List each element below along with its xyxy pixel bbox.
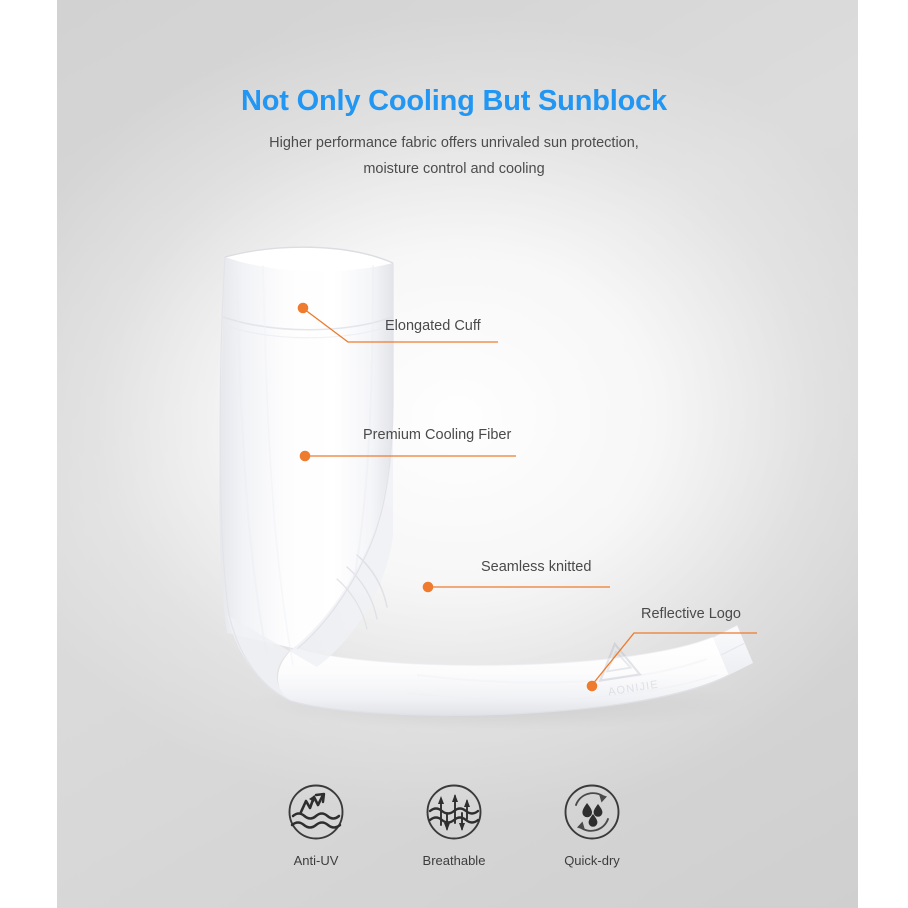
- feature-anti-uv: Anti-UV: [270, 783, 362, 868]
- feature-breathable: Breathable: [408, 783, 500, 868]
- callout-label-seamless-knitted: Seamless knitted: [481, 559, 591, 575]
- page-title: Not Only Cooling But Sunblock: [0, 85, 908, 118]
- anti-uv-icon: [287, 783, 345, 841]
- feature-label-anti-uv: Anti-UV: [294, 853, 339, 868]
- callout-label-reflective-logo: Reflective Logo: [641, 606, 741, 622]
- sleeve-body: AONIJIE: [219, 247, 753, 715]
- feature-label-breathable: Breathable: [423, 853, 486, 868]
- callout-label-elongated-cuff: Elongated Cuff: [385, 318, 481, 334]
- feature-label-quick-dry: Quick-dry: [564, 853, 620, 868]
- subtitle-line-1: Higher performance fabric offers unrival…: [0, 130, 908, 156]
- quick-dry-icon: [563, 783, 621, 841]
- product-infographic: AONIJIE Not Only Cooling But Sunblock Hi…: [0, 0, 908, 908]
- feature-quick-dry: Quick-dry: [546, 783, 638, 868]
- callout-label-premium-cooling-fiber: Premium Cooling Fiber: [363, 427, 511, 443]
- breathable-icon: [425, 783, 483, 841]
- page-subtitle: Higher performance fabric offers unrival…: [0, 130, 908, 182]
- subtitle-line-2: moisture control and cooling: [0, 156, 908, 182]
- arm-sleeve-image: AONIJIE: [197, 235, 777, 745]
- feature-icons-row: Anti-UV: [0, 783, 908, 868]
